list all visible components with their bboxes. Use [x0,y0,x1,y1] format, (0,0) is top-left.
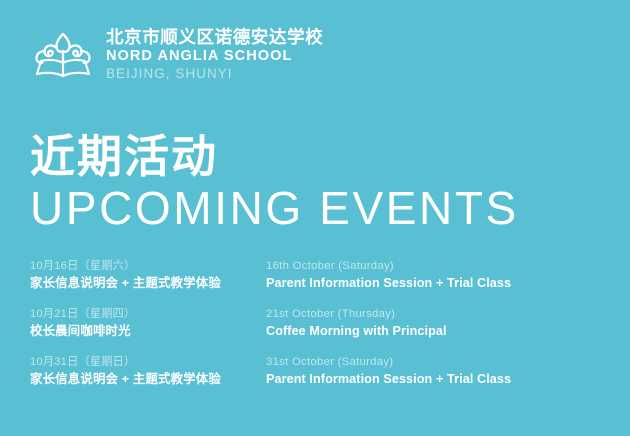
headline-english: UPCOMING EVENTS [30,182,519,234]
event-title: 家长信息说明会 + 主题式教学体验 [30,275,260,292]
event-title: Parent Information Session + Trial Class [266,275,616,292]
event-date: 31st October (Saturday) [266,354,616,370]
event-date: 21st October (Thursday) [266,306,616,322]
event-title: 校长晨间咖啡时光 [30,323,260,340]
event-title: Parent Information Session + Trial Class [266,371,616,388]
headline-chinese: 近期活动 [30,132,218,182]
event-row: 10月21日（星期四） 校长晨间咖啡时光 21st October (Thurs… [0,306,630,354]
event-column-chinese: 10月21日（星期四） 校长晨间咖啡时光 [30,306,260,340]
event-date: 10月31日（星期日） [30,354,260,370]
brand-location: BEIJING, SHUNYI [106,65,323,82]
brand-name-cn: 北京市顺义区诺德安达学校 [106,27,323,47]
event-date: 16th October (Saturday) [266,258,616,274]
brand-text: 北京市顺义区诺德安达学校 NORD ANGLIA SCHOOL BEIJING,… [106,26,323,82]
event-column-english: 16th October (Saturday) Parent Informati… [266,258,616,292]
crown-open-book-icon [30,26,96,82]
events-list: 10月16日（星期六） 家长信息说明会 + 主题式教学体验 16th Octob… [0,258,630,402]
event-column-chinese: 10月16日（星期六） 家长信息说明会 + 主题式教学体验 [30,258,260,292]
event-column-english: 31st October (Saturday) Parent Informati… [266,354,616,388]
event-date: 10月16日（星期六） [30,258,260,274]
brand-lockup: 北京市顺义区诺德安达学校 NORD ANGLIA SCHOOL BEIJING,… [30,26,323,82]
brand-name-en: NORD ANGLIA SCHOOL [106,47,323,65]
event-title: Coffee Morning with Principal [266,323,616,340]
event-column-chinese: 10月31日（星期日） 家长信息说明会 + 主题式教学体验 [30,354,260,388]
event-date: 10月21日（星期四） [30,306,260,322]
event-row: 10月31日（星期日） 家长信息说明会 + 主题式教学体验 31st Octob… [0,354,630,402]
upcoming-events-poster: 北京市顺义区诺德安达学校 NORD ANGLIA SCHOOL BEIJING,… [0,0,630,436]
event-column-english: 21st October (Thursday) Coffee Morning w… [266,306,616,340]
event-title: 家长信息说明会 + 主题式教学体验 [30,371,260,388]
event-row: 10月16日（星期六） 家长信息说明会 + 主题式教学体验 16th Octob… [0,258,630,306]
